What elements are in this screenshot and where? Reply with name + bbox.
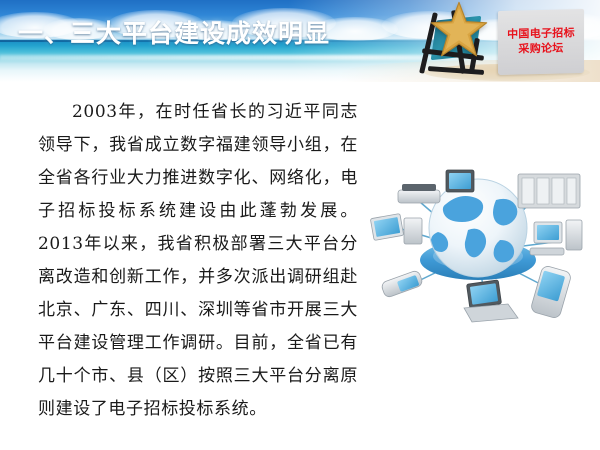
scanner-device-icon: [398, 184, 440, 203]
pda-device-icon: [530, 265, 572, 319]
logo-sign-board: 中国电子招标 采购论坛: [498, 9, 584, 75]
sign-text-line-2: 采购论坛: [518, 41, 563, 57]
beach-logo-group: 中国电子招标 采购论坛: [398, 2, 596, 82]
monitor-workstation-icon: [370, 214, 422, 244]
laptop-bottom-icon: [464, 280, 518, 322]
globe-icon: [429, 179, 527, 277]
server-rack-icon: [518, 174, 580, 208]
slide-root: 一、三大平台建设成效明显 中国电子招标 采购论坛 2003年，在时任省长的习近平…: [0, 0, 600, 450]
network-diagram-svg: [368, 156, 596, 334]
network-diagram-image: [368, 156, 596, 334]
starfish-icon: [428, 0, 490, 60]
sign-text-line-1: 中国电子招标: [507, 27, 575, 43]
laptop-top-icon: [446, 170, 474, 192]
page-title: 一、三大平台建设成效明显: [18, 14, 330, 50]
content-paragraph: 2003年，在时任省长的习近平同志领导下，我省成立数字福建领导小组，在全省各行业…: [38, 96, 358, 426]
desktop-computer-icon: [530, 220, 582, 255]
mobile-phone-left-icon: [380, 270, 423, 299]
chair-leg: [428, 66, 484, 75]
